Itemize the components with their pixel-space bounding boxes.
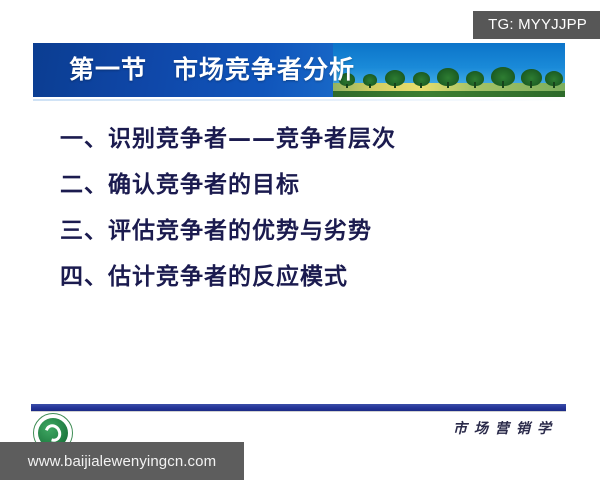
tree-trunk	[369, 84, 371, 88]
list-item: 二、确认竞争者的目标	[60, 162, 560, 208]
footer-brand-text: 市场营销学	[453, 418, 558, 438]
footer-divider-bar	[31, 404, 566, 411]
list-item: 四、估计竞争者的反应模式	[60, 254, 560, 300]
tree-trunk	[553, 82, 555, 88]
list-item: 一、识别竞争者——竞争者层次	[60, 116, 560, 162]
slide-title-banner: 第一节 市场竞争者分析	[33, 43, 565, 97]
list-item: 三、评估竞争者的优势与劣势	[60, 208, 560, 254]
slide-outline-list: 一、识别竞争者——竞争者层次 二、确认竞争者的目标 三、评估竞争者的优势与劣势 …	[60, 116, 560, 300]
tree-trunk	[530, 81, 532, 88]
tree-trunk	[447, 82, 449, 88]
tree-trunk	[394, 83, 396, 88]
photo-field-green	[333, 91, 565, 97]
slide-title: 第一节 市场竞争者分析	[69, 49, 355, 91]
tree-trunk	[502, 81, 504, 88]
banner-landscape-photo	[333, 43, 565, 97]
tg-watermark: TG: MYYJJPP	[473, 11, 600, 39]
url-watermark: www.baijialewenyingcn.com	[0, 442, 244, 480]
tree-trunk	[420, 83, 422, 88]
presentation-slide: 第一节 市场竞争者分析 一、识别竞争者——竞争者层次 二、确认竞争者的目标 三、…	[0, 0, 600, 480]
tree-trunk	[474, 82, 476, 88]
banner-underline-rule	[33, 99, 565, 101]
